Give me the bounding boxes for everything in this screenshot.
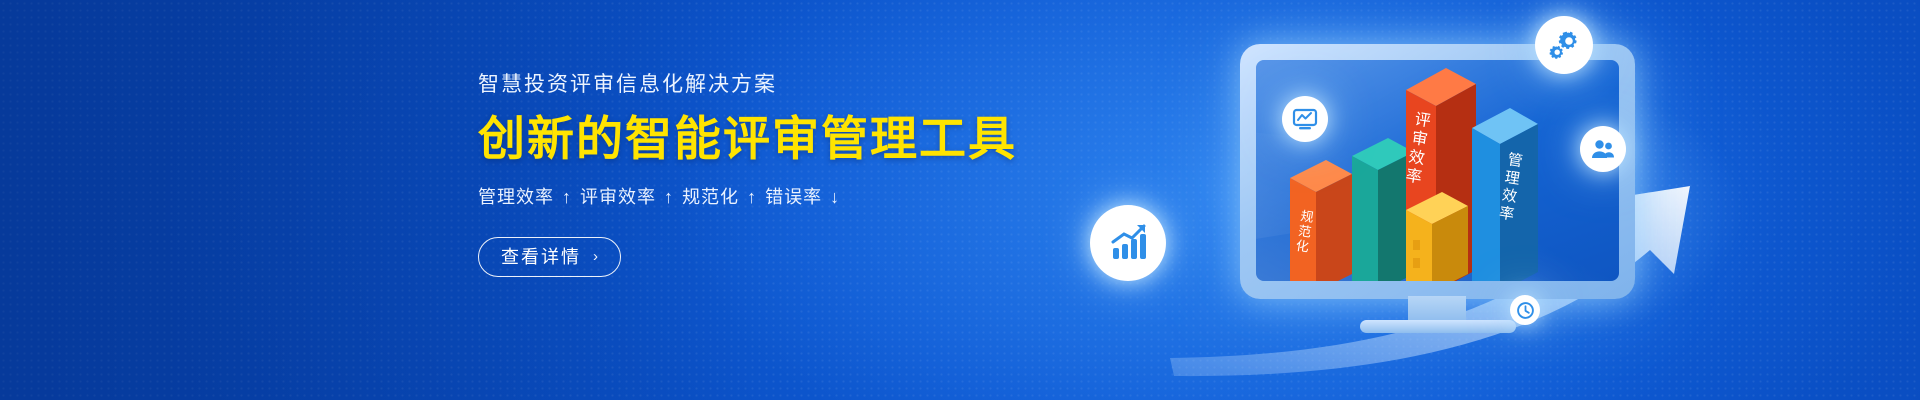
users-icon — [1580, 126, 1626, 172]
banner-illustration: 规范化 评审效率 管理效率 — [1060, 0, 1920, 400]
chevron-right-icon: › — [593, 249, 600, 264]
chart-growth-icon — [1090, 205, 1166, 281]
bar-house — [1406, 192, 1468, 281]
subtitle-item-2-arrow-icon: ↑ — [662, 187, 676, 208]
view-details-label: 查看详情 — [501, 248, 581, 266]
banner-headline: 创新的智能评审管理工具 — [478, 113, 998, 166]
subtitle-item-3-arrow-icon: ↑ — [745, 187, 759, 208]
view-details-button[interactable]: 查看详情 › — [478, 237, 621, 277]
banner-subtitle: 管理效率 ↑ 评审效率 ↑ 规范化 ↑ 错误率 ↓ — [478, 183, 998, 209]
subtitle-item-2-label: 评审效率 — [580, 187, 656, 207]
monitor-screen: 规范化 评审效率 管理效率 — [1256, 60, 1619, 281]
subtitle-item-1-arrow-icon: ↑ — [560, 187, 574, 208]
monitor-stand-neck — [1408, 296, 1466, 322]
bar-teal — [1352, 138, 1414, 281]
subtitle-item-1-label: 管理效率 — [478, 187, 554, 207]
subtitle-item-4-arrow-icon: ↓ — [828, 187, 842, 208]
monitor-linechart-icon — [1282, 96, 1328, 142]
gears-icon — [1535, 16, 1593, 74]
clock-icon — [1510, 295, 1540, 325]
subtitle-item-3-label: 规范化 — [682, 187, 739, 207]
promo-banner: 智慧投资评审信息化解决方案 创新的智能评审管理工具 管理效率 ↑ 评审效率 ↑ … — [0, 0, 1920, 400]
banner-eyebrow: 智慧投资评审信息化解决方案 — [478, 72, 998, 97]
monitor-device: 规范化 评审效率 管理效率 — [1240, 44, 1635, 299]
monitor-stand-base — [1360, 320, 1516, 333]
isometric-bar-chart: 规范化 评审效率 管理效率 — [1256, 60, 1619, 281]
subtitle-item-4-label: 错误率 — [765, 187, 822, 207]
banner-copy: 智慧投资评审信息化解决方案 创新的智能评审管理工具 管理效率 ↑ 评审效率 ↑ … — [478, 72, 998, 277]
